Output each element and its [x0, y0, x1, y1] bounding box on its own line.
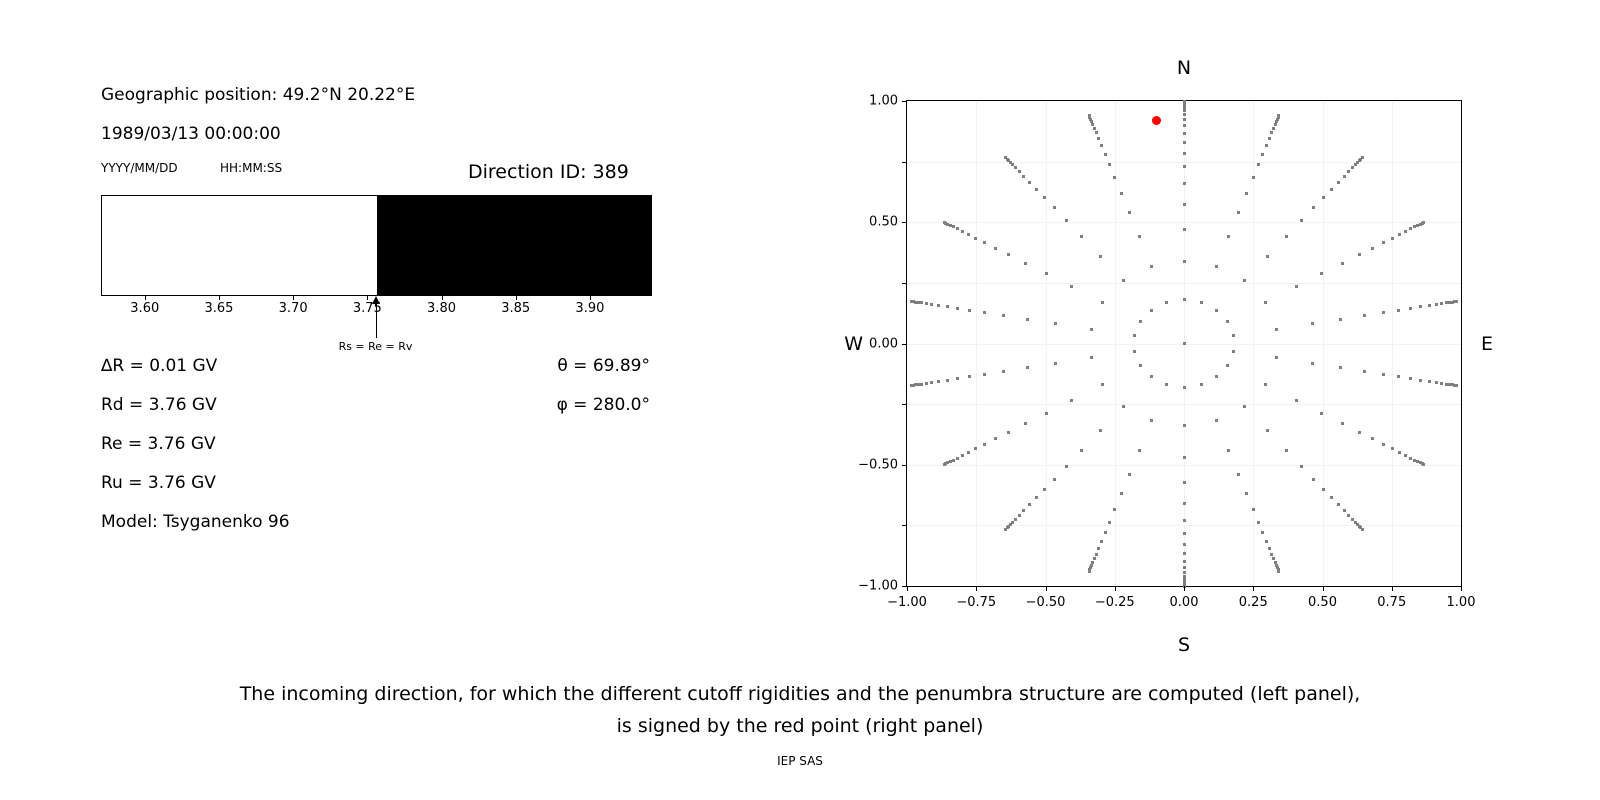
sky-map-dot — [1183, 141, 1186, 144]
sky-map-dot — [1090, 356, 1093, 359]
x-axis-tick-label: 0.00 — [1170, 595, 1199, 610]
sky-map-dot — [925, 302, 928, 305]
sky-map-dot — [1113, 176, 1116, 179]
sky-map-dot — [1275, 356, 1278, 359]
sky-map-dot — [956, 227, 959, 230]
sky-map-dot — [1391, 237, 1394, 240]
sky-map-dot — [1404, 454, 1407, 457]
x-axis-tick — [1323, 586, 1324, 591]
sky-map-dot — [1285, 235, 1288, 238]
sky-map-dot — [1183, 113, 1186, 116]
sky-map-dot — [1261, 531, 1264, 534]
sky-map-dot — [1320, 412, 1323, 415]
sky-map-dot — [1183, 228, 1186, 231]
delta-r-value: ∆R = 0.01 GV — [101, 356, 217, 376]
rd-value: Rd = 3.76 GV — [101, 395, 217, 415]
sky-map-dot — [910, 300, 913, 303]
sky-map-dot — [1007, 431, 1010, 434]
sky-map-dot — [1275, 328, 1278, 331]
sky-map-dot — [1270, 553, 1273, 556]
sky-map-dot — [1133, 334, 1136, 337]
sky-map-dot — [1322, 488, 1325, 491]
compass-south-label: S — [1178, 634, 1190, 656]
sky-map-dot — [1237, 211, 1240, 214]
sky-map-dot — [994, 247, 997, 250]
sky-map-dot — [974, 237, 977, 240]
sky-map-dot — [1232, 350, 1235, 353]
cutoff-marker: Rs = Re = Rv — [101, 296, 652, 346]
sky-map-dot — [1409, 457, 1412, 460]
x-axis-tick — [976, 586, 977, 591]
sky-map-dot — [1018, 514, 1021, 517]
sky-map-dot — [910, 384, 913, 387]
compass-east-label: E — [1481, 333, 1493, 355]
sky-map-dot — [1272, 557, 1275, 560]
sky-map-dot — [1183, 481, 1186, 484]
sky-map-dot — [1088, 570, 1091, 573]
sky-map-dot — [1183, 260, 1186, 263]
sky-map-dot — [1093, 557, 1096, 560]
sky-map-dot — [1428, 380, 1431, 383]
sky-map-dot — [974, 447, 977, 450]
sky-map-dot — [1122, 405, 1125, 408]
sky-map-dot — [1183, 298, 1186, 301]
x-axis-tick — [1184, 586, 1185, 591]
y-axis-tick — [902, 404, 907, 405]
gridline-horizontal — [907, 525, 1461, 526]
sky-map-dot — [1361, 156, 1364, 159]
sky-map-dot — [1090, 328, 1093, 331]
sky-map-dot — [1183, 182, 1186, 185]
sky-map-dot — [1028, 181, 1031, 184]
sky-map-dot — [1261, 153, 1264, 156]
y-axis-tick — [902, 283, 907, 284]
sky-map-dot — [1215, 375, 1218, 378]
sky-map-dot — [1183, 571, 1186, 574]
gridline-horizontal — [907, 283, 1461, 284]
sky-map-dot — [1226, 320, 1229, 323]
penumbra-bar-container — [101, 195, 652, 296]
theta-value: θ = 69.89° — [557, 356, 650, 376]
sky-map-dot — [1245, 192, 1248, 195]
sky-map-dot — [968, 309, 971, 312]
sky-map-dot — [1312, 206, 1315, 209]
sky-map-dot — [1139, 320, 1142, 323]
sky-map-dot — [1265, 144, 1268, 147]
penumbra-segment-forbidden — [377, 196, 652, 295]
sky-map-dot — [967, 233, 970, 236]
sky-map-dot — [1183, 560, 1186, 563]
y-axis-tick-label: 0.50 — [869, 215, 898, 230]
sky-map-dot — [1252, 176, 1255, 179]
sky-map-dot — [1351, 166, 1354, 169]
sky-map-dot — [937, 304, 940, 307]
sky-map-dot — [1100, 144, 1103, 147]
datetime-label: 1989/03/13 00:00:00 — [101, 124, 281, 144]
sky-map-dot — [1330, 188, 1333, 191]
sky-map-dot — [1382, 373, 1385, 376]
sky-map-dot — [930, 303, 933, 306]
sky-map-dot — [1347, 514, 1350, 517]
sky-map-dot — [1440, 302, 1443, 305]
sky-map-dot — [961, 230, 964, 233]
y-axis-tick-label: −1.00 — [858, 579, 898, 594]
sky-map-dot — [1150, 265, 1153, 268]
y-axis-tick — [902, 525, 907, 526]
sky-map-dot — [1007, 253, 1010, 256]
sky-map-dot — [920, 383, 923, 386]
x-axis-tick-label: −1.00 — [887, 595, 927, 610]
sky-map-dot — [1093, 127, 1096, 130]
sky-map-dot — [1300, 465, 1303, 468]
sky-map-dot — [1419, 305, 1422, 308]
y-axis-tick — [902, 222, 907, 223]
sky-map-dot — [1320, 272, 1323, 275]
sky-map-dot — [1295, 285, 1298, 288]
sky-map-dot — [1257, 521, 1260, 524]
x-axis-tick-label: −0.50 — [1026, 595, 1066, 610]
sky-map-dot — [1264, 383, 1267, 386]
sky-map-dot — [1045, 272, 1048, 275]
sky-map-dot — [1398, 451, 1401, 454]
time-format-hint: HH:MM:SS — [220, 161, 282, 175]
sky-map-dot — [1409, 377, 1412, 380]
sky-map-plot: N S W E −1.00−0.500.000.501.00−1.00−0.75… — [906, 100, 1462, 587]
sky-map-dot — [1014, 166, 1017, 169]
sky-map-dot — [1215, 419, 1218, 422]
sky-map-dot — [1035, 496, 1038, 499]
sky-map-dot — [1409, 227, 1412, 230]
sky-map-dot — [1026, 318, 1029, 321]
sky-map-dot — [1311, 322, 1314, 325]
sky-map-dot — [1183, 566, 1186, 569]
sky-map-dot — [1091, 123, 1094, 126]
direction-id-label: Direction ID: 389 — [468, 161, 629, 183]
sky-map-dot — [1422, 463, 1425, 466]
sky-map-dot — [1054, 362, 1057, 365]
sky-map-dot — [1341, 422, 1344, 425]
sky-map-dot — [1226, 364, 1229, 367]
ru-value: Ru = 3.76 GV — [101, 473, 216, 493]
sky-map-dot — [1070, 285, 1073, 288]
sky-map-dot — [1285, 449, 1288, 452]
sky-map-dot — [1243, 405, 1246, 408]
sky-map-dot — [1104, 153, 1107, 156]
gridline-horizontal — [907, 404, 1461, 405]
x-axis-tick-label: 0.75 — [1377, 595, 1406, 610]
sky-map-dot — [1371, 437, 1374, 440]
sky-map-dot — [1183, 203, 1186, 206]
cutoff-arrow-head — [372, 296, 380, 304]
model-value: Model: Tsyganenko 96 — [101, 512, 290, 532]
caption-line-1: The incoming direction, for which the di… — [0, 678, 1600, 710]
sky-map-dot — [1397, 375, 1400, 378]
x-axis-tick — [907, 586, 908, 591]
sky-map-dot — [1428, 304, 1431, 307]
sky-map-dot — [1150, 419, 1153, 422]
footer-credit: IEP SAS — [0, 754, 1600, 768]
sky-map-dot — [1268, 137, 1271, 140]
sky-map-dot — [1065, 465, 1068, 468]
compass-north-label: N — [1177, 57, 1191, 79]
sky-map-dot — [952, 225, 955, 228]
sky-map-dot — [1215, 309, 1218, 312]
sky-map-dot — [1245, 492, 1248, 495]
x-axis-tick — [1392, 586, 1393, 591]
sky-map-dot — [1422, 221, 1425, 224]
sky-map-dot — [1252, 508, 1255, 511]
sky-map-dot — [1104, 531, 1107, 534]
sky-map-dot — [1266, 255, 1269, 258]
sky-map-dot — [1097, 137, 1100, 140]
sky-map-dot — [1183, 132, 1186, 135]
x-axis-tick-label: 0.50 — [1308, 595, 1337, 610]
sky-map-dot — [1095, 553, 1098, 556]
sky-map-dot — [1391, 447, 1394, 450]
x-axis-tick-label: −0.75 — [956, 595, 996, 610]
sky-map-dot — [1128, 473, 1131, 476]
geographic-position-label: Geographic position: 49.2°N 20.22°E — [101, 85, 415, 105]
sky-map-dot — [1455, 300, 1458, 303]
sky-map-dot — [1337, 503, 1340, 506]
sky-map-dot — [1361, 528, 1364, 531]
x-axis-tick-label: 0.25 — [1239, 595, 1268, 610]
sky-map-dot — [1272, 127, 1275, 130]
sky-map-dot — [1183, 386, 1186, 389]
sky-map-dot — [930, 381, 933, 384]
sky-map-dot — [1312, 478, 1315, 481]
sky-map-dot — [1295, 399, 1298, 402]
sky-map-dot — [1363, 314, 1366, 317]
sky-map-dot — [1397, 309, 1400, 312]
sky-map-dot — [983, 241, 986, 244]
sky-map-dot — [967, 451, 970, 454]
sky-map-dot — [1371, 247, 1374, 250]
sky-map-dot — [1108, 521, 1111, 524]
sky-map-dot — [1277, 570, 1280, 573]
sky-map-dot — [1300, 219, 1303, 222]
right-panel: N S W E −1.00−0.500.000.501.00−1.00−0.75… — [830, 40, 1530, 660]
sky-map-dot — [1128, 211, 1131, 214]
sky-map-dot — [1070, 399, 1073, 402]
sky-map-dot — [943, 463, 946, 466]
sky-map-dot — [1183, 152, 1186, 155]
sky-map-dot — [946, 379, 949, 382]
sky-map-dot — [1018, 170, 1021, 173]
sky-map-dot — [937, 380, 940, 383]
sky-map-dot — [1183, 532, 1186, 535]
sky-map-dot — [1183, 124, 1186, 127]
sky-map-dot — [1382, 311, 1385, 314]
sky-map-dot — [1347, 170, 1350, 173]
sky-map-dot — [1080, 235, 1083, 238]
compass-west-label: W — [844, 333, 863, 355]
sky-map-dot — [983, 443, 986, 446]
y-axis-tick — [902, 162, 907, 163]
sky-map-dot — [1200, 383, 1203, 386]
gridline-horizontal — [907, 465, 1461, 466]
sky-map-dot — [956, 307, 959, 310]
sky-map-dot — [1382, 443, 1385, 446]
sky-map-dot — [1024, 422, 1027, 425]
sky-map-dot — [1113, 508, 1116, 511]
sky-map-dot — [968, 375, 971, 378]
sky-map-dot — [1024, 262, 1027, 265]
re-value: Re = 3.76 GV — [101, 434, 216, 454]
sky-map-dot — [1004, 528, 1007, 531]
sky-map-dot — [1339, 366, 1342, 369]
sky-map-dot — [1322, 196, 1325, 199]
x-axis-tick — [1046, 586, 1047, 591]
sky-map-dot — [1028, 503, 1031, 506]
sky-map-dot — [1080, 449, 1083, 452]
sky-map-dot — [1264, 301, 1267, 304]
sky-map-dot — [1227, 235, 1230, 238]
sky-map-dot — [1101, 383, 1104, 386]
x-axis-tick — [1253, 586, 1254, 591]
sky-map-dot — [1183, 543, 1186, 546]
sky-map-dot — [1404, 230, 1407, 233]
sky-map-dot — [1088, 114, 1091, 117]
sky-map-dot — [994, 437, 997, 440]
sky-map-dot — [1043, 196, 1046, 199]
sky-map-dot — [1099, 429, 1102, 432]
sky-map-dot — [1243, 279, 1246, 282]
sky-map-dot — [1270, 131, 1273, 134]
sky-map-dot — [1108, 163, 1111, 166]
phi-value: φ = 280.0° — [557, 395, 650, 415]
sky-map-dot — [1054, 322, 1057, 325]
sky-map-dot — [1002, 314, 1005, 317]
sky-map-dot — [1183, 502, 1186, 505]
sky-map-dot — [1133, 350, 1136, 353]
sky-map-dot — [1026, 366, 1029, 369]
sky-map-dot — [1022, 175, 1025, 178]
sky-map-dot — [1138, 449, 1141, 452]
sky-map-dot — [1122, 279, 1125, 282]
sky-map-dot — [1183, 424, 1186, 427]
sky-map-dot — [1445, 383, 1448, 386]
sky-map-dot — [1053, 478, 1056, 481]
sky-map-dot — [1343, 175, 1346, 178]
y-axis-tick — [902, 101, 907, 102]
sky-map-dot — [983, 311, 986, 314]
sky-map-dot — [1232, 334, 1235, 337]
sky-map-dot — [1004, 156, 1007, 159]
sky-map-dot — [1099, 255, 1102, 258]
gridline-horizontal — [907, 162, 1461, 163]
sky-map-dot — [1100, 540, 1103, 543]
x-axis-tick — [1461, 586, 1462, 591]
sky-map-dot — [1257, 163, 1260, 166]
sky-map-dot — [1358, 253, 1361, 256]
sky-map-dot — [1097, 547, 1100, 550]
sky-map-dot — [952, 459, 955, 462]
sky-map-dot — [1200, 301, 1203, 304]
sky-map-dot — [943, 221, 946, 224]
left-panel: Geographic position: 49.2°N 20.22°E 1989… — [0, 0, 760, 620]
sky-map-dot — [1445, 301, 1448, 304]
sky-map-dot — [1150, 375, 1153, 378]
sky-map-dot — [1409, 307, 1412, 310]
sky-map-dot — [1045, 412, 1048, 415]
selected-direction-point — [1152, 116, 1161, 125]
sky-map-dot — [1265, 540, 1268, 543]
sky-map-dot — [1183, 456, 1186, 459]
y-axis-tick — [902, 465, 907, 466]
cutoff-arrow-shaft — [376, 302, 377, 338]
sky-map-dot — [1268, 547, 1271, 550]
sky-map-dot — [1440, 382, 1443, 385]
x-axis-tick-label: 1.00 — [1447, 595, 1476, 610]
sky-map-dot — [925, 382, 928, 385]
sky-map-dot — [1183, 118, 1186, 121]
sky-map-dot — [1330, 496, 1333, 499]
sky-map-dot — [1339, 318, 1342, 321]
sky-map-dot — [1035, 188, 1038, 191]
sky-map-dot — [1183, 342, 1186, 345]
sky-map-dot — [1363, 370, 1366, 373]
sky-map-dot — [1341, 262, 1344, 265]
sky-map-dot — [956, 377, 959, 380]
cutoff-label: Rs = Re = Rv — [339, 340, 413, 353]
penumbra-segment-allowed — [102, 196, 377, 295]
sky-map-dot — [1435, 381, 1438, 384]
sky-map-dot — [1227, 449, 1230, 452]
sky-map-dot — [1358, 431, 1361, 434]
caption-line-2: is signed by the red point (right panel) — [0, 710, 1600, 742]
sky-map-dot — [917, 383, 920, 386]
sky-map-dot — [1274, 123, 1277, 126]
x-axis-tick — [1115, 586, 1116, 591]
date-format-hint: YYYY/MM/DD — [101, 161, 178, 175]
sky-map-dot — [1014, 518, 1017, 521]
sky-map-dot — [1277, 114, 1280, 117]
x-axis-tick-label: −0.25 — [1095, 595, 1135, 610]
sky-map-dot — [1138, 235, 1141, 238]
sky-map-dot — [956, 457, 959, 460]
sky-map-dot — [1022, 509, 1025, 512]
sky-map-dot — [1382, 241, 1385, 244]
sky-map-dot — [1165, 301, 1168, 304]
sky-map-dot — [1183, 165, 1186, 168]
sky-map-dot — [961, 454, 964, 457]
sky-map-dot — [1150, 309, 1153, 312]
sky-map-dot — [1183, 100, 1186, 103]
sky-map-dot — [1237, 473, 1240, 476]
sky-map-dot — [1419, 379, 1422, 382]
sky-map-dot — [1053, 206, 1056, 209]
y-axis-tick-label: −0.50 — [858, 457, 898, 472]
gridline-horizontal — [907, 222, 1461, 223]
sky-map-dot — [946, 305, 949, 308]
sky-map-dot — [1101, 301, 1104, 304]
sky-map-dot — [1183, 109, 1186, 112]
sky-map-dot — [1183, 519, 1186, 522]
sky-map-dot — [1120, 192, 1123, 195]
sky-map-dot — [917, 301, 920, 304]
sky-map-dot — [1311, 362, 1314, 365]
sky-map-dot — [1065, 219, 1068, 222]
sky-map-dot — [1002, 370, 1005, 373]
sky-map-dot — [1435, 303, 1438, 306]
sky-map-dot — [1183, 552, 1186, 555]
sky-map-dot — [1120, 492, 1123, 495]
sky-map-dot — [1139, 364, 1142, 367]
sky-map-dot — [1215, 265, 1218, 268]
sky-map-dot — [1343, 509, 1346, 512]
figure-caption: The incoming direction, for which the di… — [0, 678, 1600, 742]
